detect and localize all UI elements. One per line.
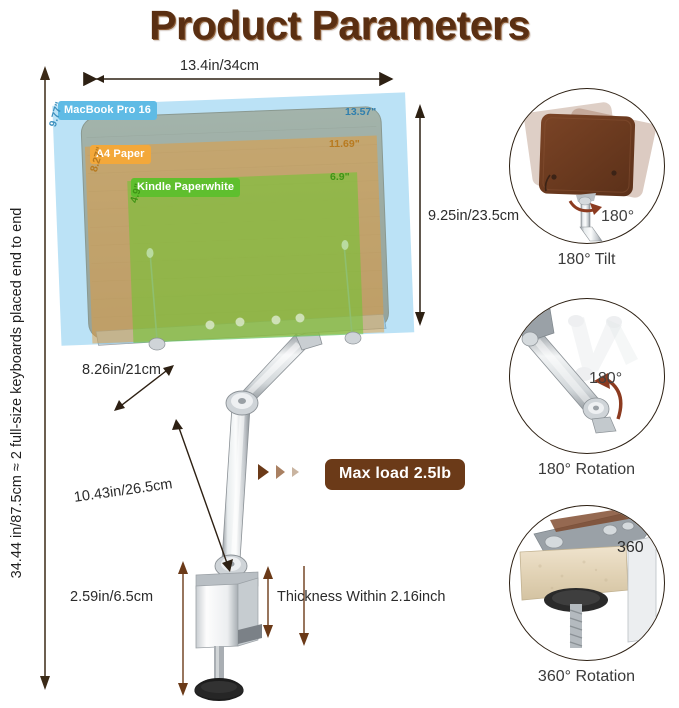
infographic-root: Product Parameters 34.44 in/87.5cm ≈ 2 f… bbox=[0, 0, 679, 708]
overlay-width-macbook: 13.57" bbox=[345, 106, 376, 118]
right-dimension-label: 9.25in/23.5cm bbox=[428, 208, 519, 224]
overlay-label-macbook: MacBook Pro 16 bbox=[58, 101, 157, 120]
top-dimension-label: 13.4in/34cm bbox=[180, 58, 259, 74]
feature-caption-tilt: 180° Tilt bbox=[497, 251, 676, 269]
feature-angle-rotation: 180° bbox=[589, 370, 622, 388]
arm-upper-dimension-label: 8.26in/21cm bbox=[82, 362, 161, 378]
feature-caption-base: 360° Rotation bbox=[497, 668, 676, 686]
arrow-triangle-icon bbox=[258, 464, 269, 480]
feature-illustration-rotation bbox=[509, 298, 665, 454]
arrow-triangle-icon bbox=[276, 465, 285, 479]
overlay-kindle bbox=[127, 172, 363, 343]
overlay-width-kindle: 6.9" bbox=[330, 171, 350, 183]
clamp-thickness-dimension-label: Thickness Within 2.16inch bbox=[277, 589, 445, 605]
feature-angle-tilt: 180° bbox=[601, 208, 634, 226]
max-load-badge: Max load 2.5lb bbox=[325, 459, 465, 490]
feature-angle-base: 360 bbox=[617, 539, 644, 557]
arrow-triangle-icon bbox=[292, 467, 299, 477]
feature-illustration-tilt bbox=[509, 88, 665, 244]
overlay-label-kindle: Kindle Paperwhite bbox=[131, 178, 240, 197]
overlay-width-a4: 11.69" bbox=[329, 138, 360, 150]
feature-caption-rotation: 180° Rotation bbox=[497, 461, 676, 479]
feature-illustration-base bbox=[509, 505, 665, 661]
clamp-height-dimension-label: 2.59in/6.5cm bbox=[70, 589, 153, 605]
